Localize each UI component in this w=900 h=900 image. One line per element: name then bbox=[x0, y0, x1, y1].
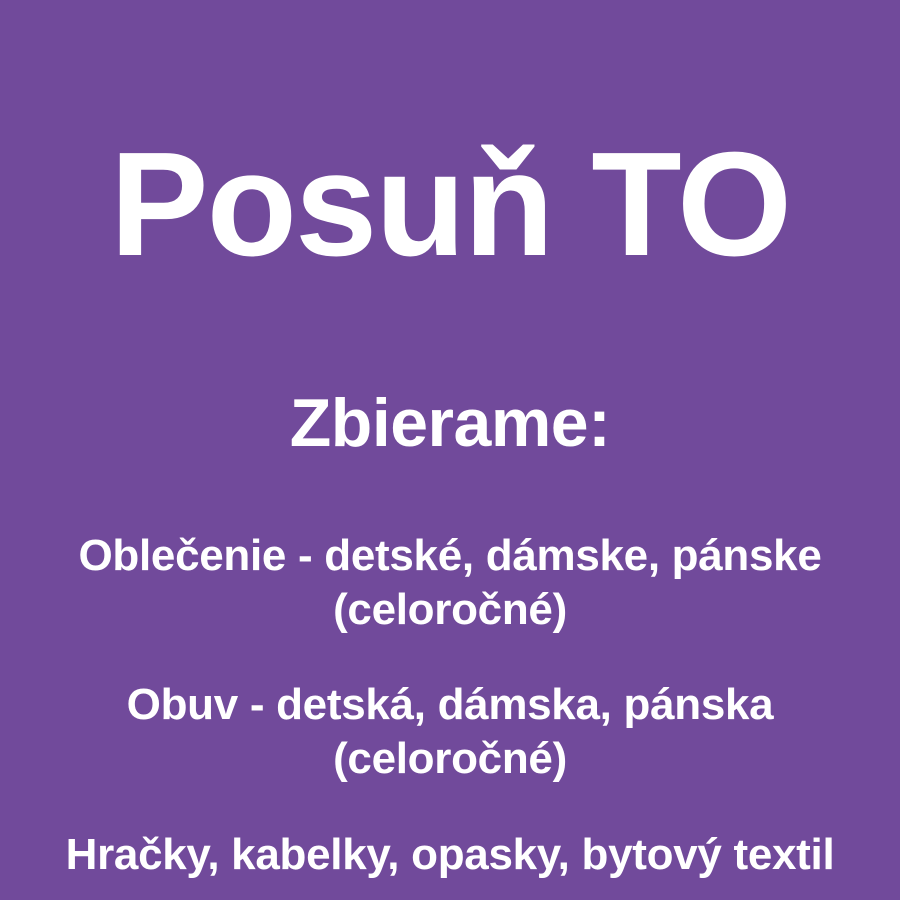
poster-canvas: Posuň TO Zbierame: Oblečenie - detské, d… bbox=[0, 0, 900, 900]
page-title: Posuň TO bbox=[0, 131, 900, 279]
list-item: Obuv - detská, dámska, pánska (celoročné… bbox=[20, 678, 880, 785]
list-item: Hračky, kabelky, opasky, bytový textil bbox=[20, 828, 880, 882]
list-item: Oblečenie - detské, dámske, pánske (celo… bbox=[20, 529, 880, 636]
section-heading-collecting: Zbierame: bbox=[0, 389, 900, 457]
collection-items-list: Oblečenie - detské, dámske, pánske (celo… bbox=[0, 529, 900, 881]
